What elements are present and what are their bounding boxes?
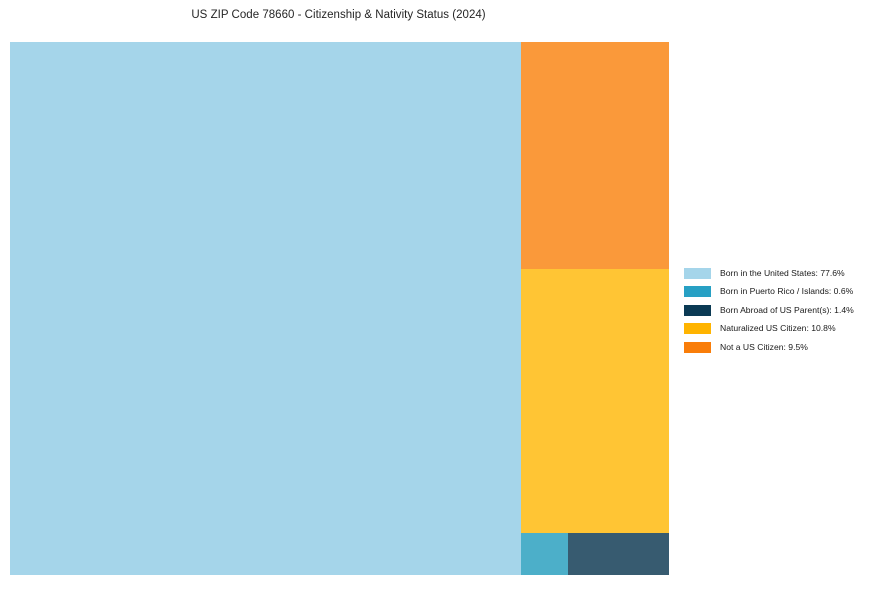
legend-item-label: Born in Puerto Rico / Islands: 0.6% (720, 287, 853, 296)
treemap-tile[interactable] (10, 42, 521, 575)
legend-swatch-icon (684, 268, 711, 279)
legend-item-label: Born Abroad of US Parent(s): 1.4% (720, 306, 854, 315)
treemap-tile[interactable] (521, 42, 669, 269)
treemap-tile[interactable] (521, 269, 669, 533)
legend-item-label: Naturalized US Citizen: 10.8% (720, 324, 836, 333)
treemap-tile[interactable] (568, 533, 669, 575)
treemap-tile[interactable] (521, 533, 568, 575)
treemap-plot-area (10, 42, 669, 575)
legend-item-label: Not a US Citizen: 9.5% (720, 343, 808, 352)
legend-item-label: Born in the United States: 77.6% (720, 269, 845, 278)
chart-title: US ZIP Code 78660 - Citizenship & Nativi… (0, 9, 677, 21)
legend-swatch-icon (684, 286, 711, 297)
legend-item[interactable]: Born in Puerto Rico / Islands: 0.6% (684, 283, 884, 302)
legend-swatch-icon (684, 342, 711, 353)
legend-item[interactable]: Born Abroad of US Parent(s): 1.4% (684, 301, 884, 320)
chart-legend: Born in the United States: 77.6%Born in … (684, 264, 884, 357)
legend-swatch-icon (684, 323, 711, 334)
treemap-figure: US ZIP Code 78660 - Citizenship & Nativi… (0, 0, 889, 590)
legend-item[interactable]: Not a US Citizen: 9.5% (684, 338, 884, 357)
legend-item[interactable]: Born in the United States: 77.6% (684, 264, 884, 283)
legend-swatch-icon (684, 305, 711, 316)
legend-item[interactable]: Naturalized US Citizen: 10.8% (684, 320, 884, 339)
